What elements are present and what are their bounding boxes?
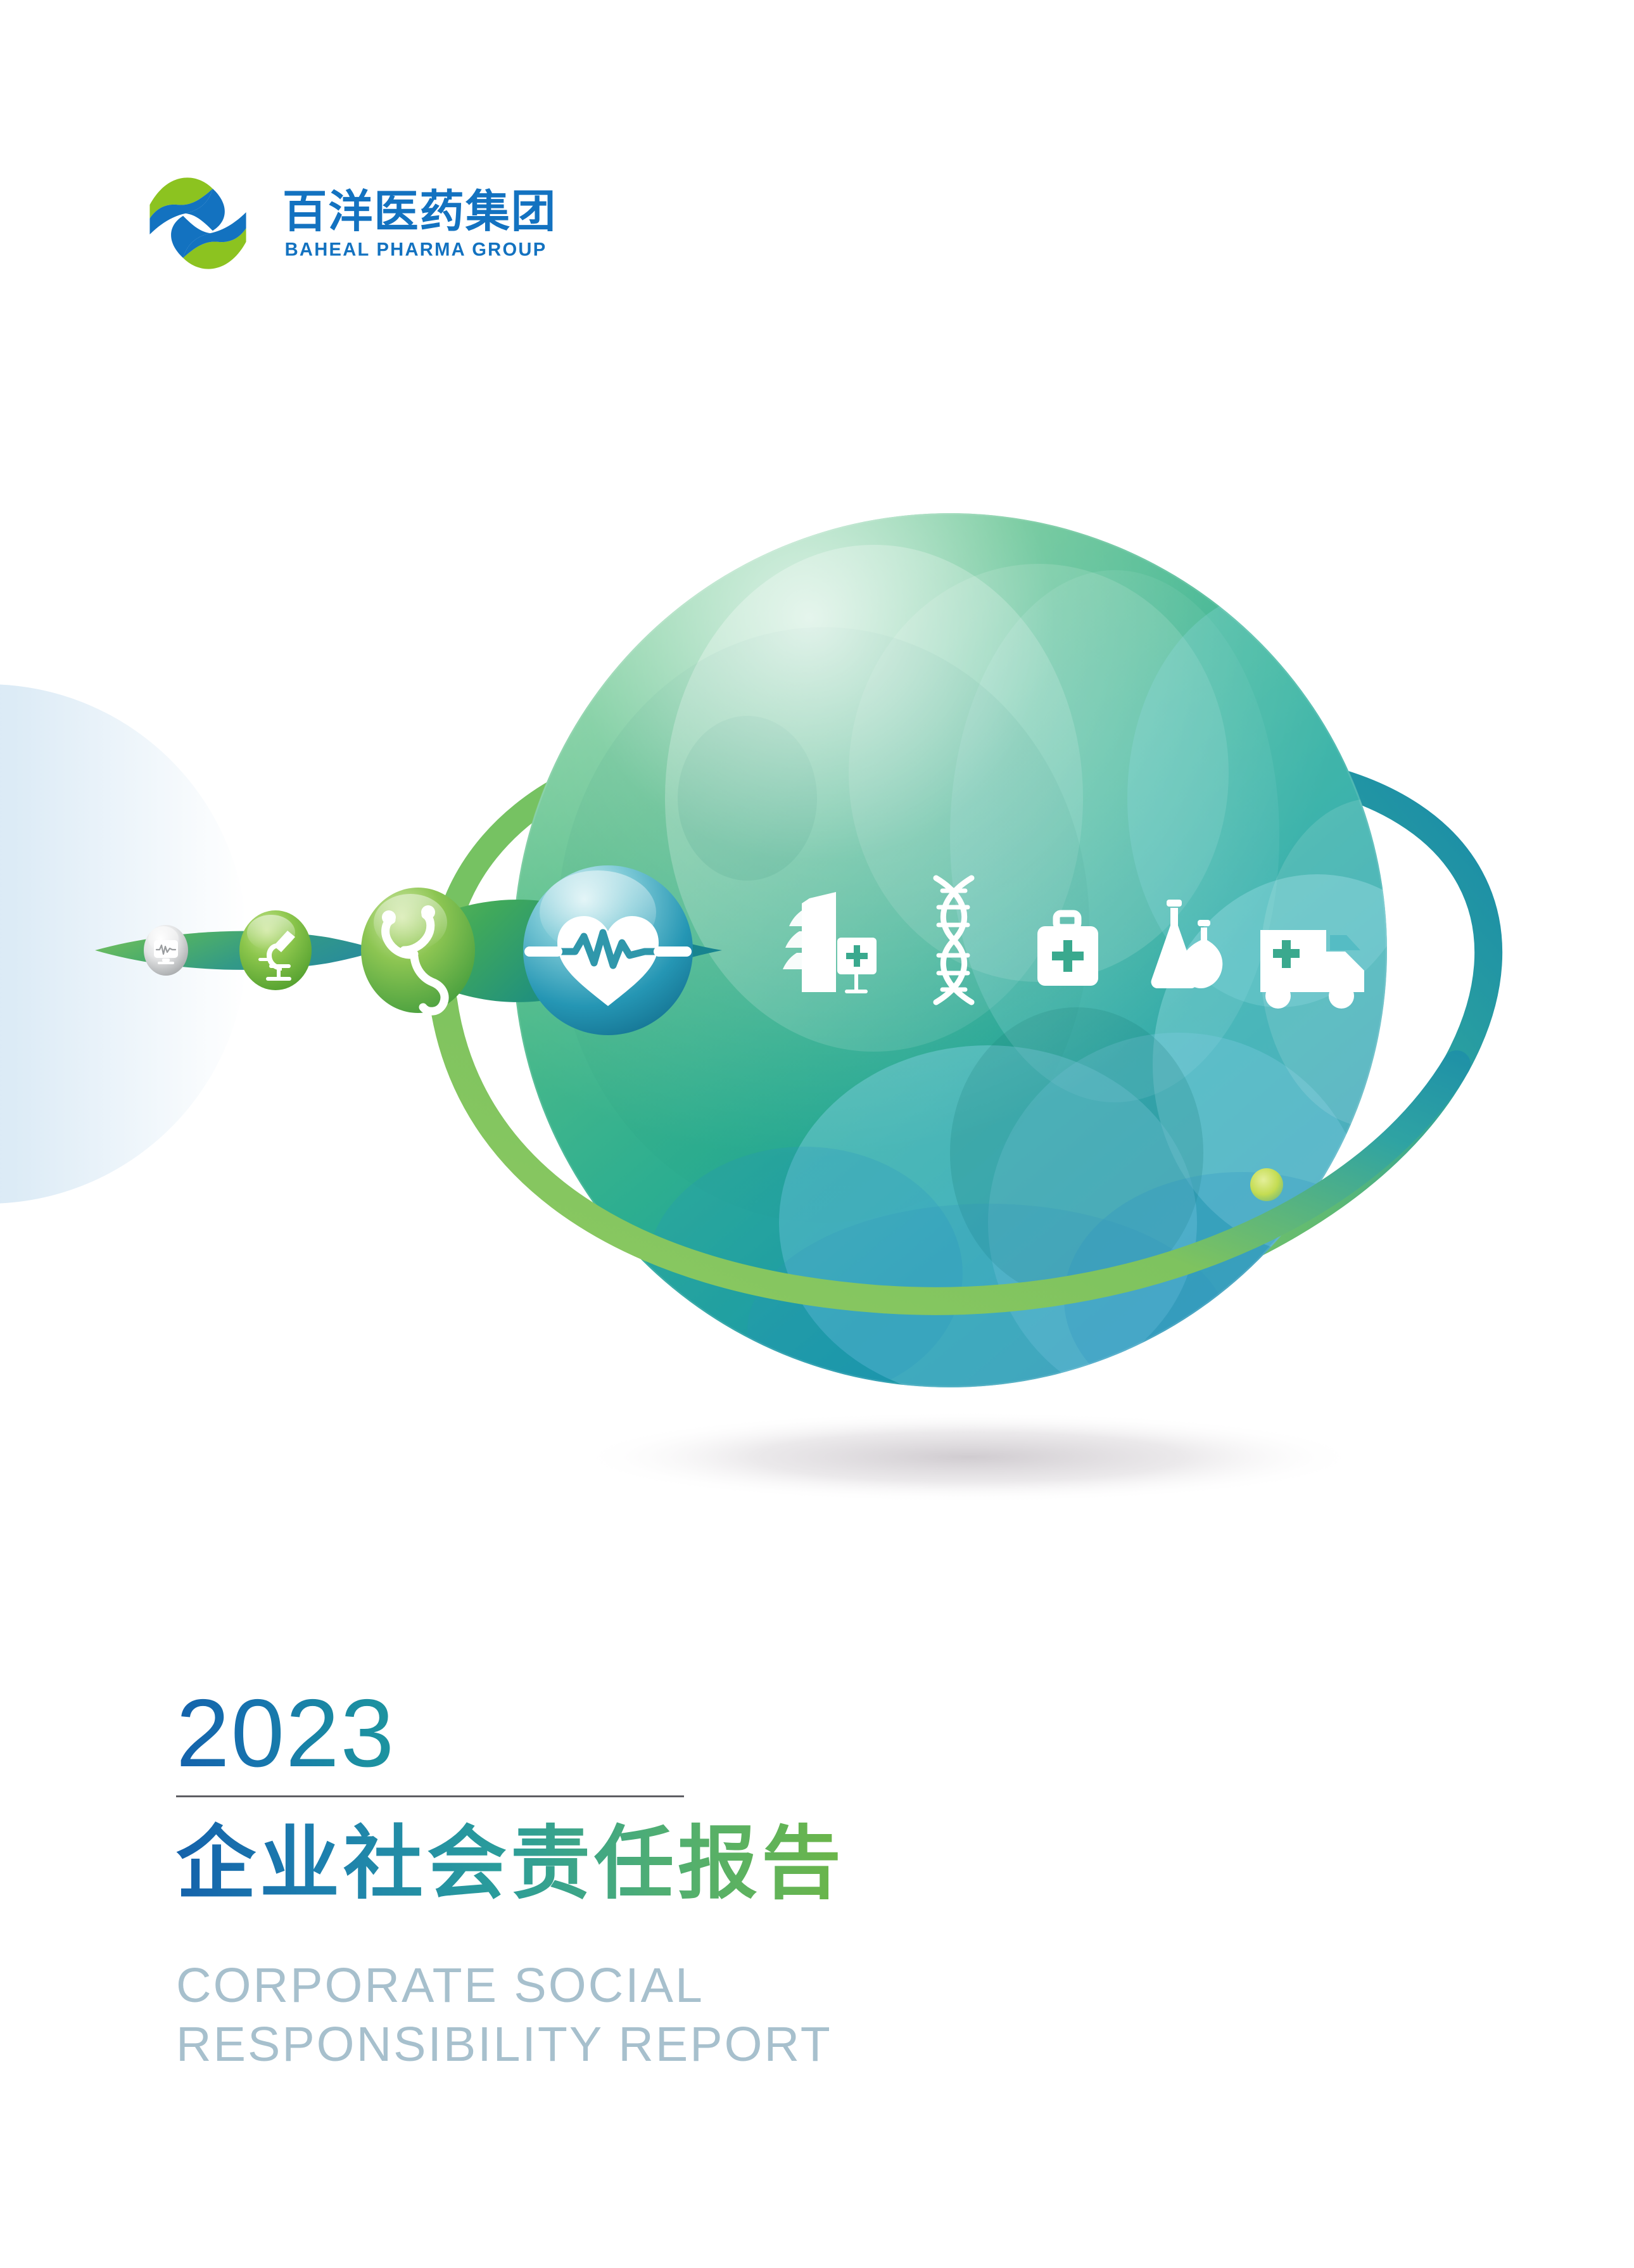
page-subtitle: CORPORATE SOCIAL RESPONSIBILITY REPORT (176, 1956, 1126, 2074)
medical-globe-illustration (0, 443, 1634, 1584)
logo-wordmark: 百洋医药集团 BAHEAL PHARMA GROUP (282, 188, 643, 259)
yellow-green-accent-dot (1250, 1168, 1283, 1201)
baheal-wave-logo-mark (136, 162, 260, 285)
heartbeat-node (523, 865, 693, 1035)
report-cover-page: 百洋医药集团 BAHEAL PHARMA GROUP (0, 0, 1634, 2268)
page-subtitle-line-1: CORPORATE SOCIAL (176, 1956, 1126, 2015)
cover-title-block: 2023 企业社会责任报告 CORPORATE SOCIAL RESPONSIB… (176, 1685, 1126, 2074)
logo-cn-text: 百洋医药集团 (282, 188, 557, 236)
globe-drop-shadow (576, 1411, 1362, 1503)
microscope-node (239, 910, 312, 990)
ecg-monitor-node (144, 925, 188, 976)
page-title: 企业社会责任报告 (176, 1819, 845, 1908)
logo-en-text: BAHEAL PHARMA GROUP (285, 239, 547, 259)
report-year: 2023 (176, 1685, 395, 1781)
stethoscope-node (361, 888, 475, 1013)
logo-company-name-cn: 百洋医药集团 (282, 188, 643, 236)
logo-company-name-en: BAHEAL PHARMA GROUP (282, 239, 643, 259)
title-divider-rule (176, 1795, 684, 1797)
company-logo: 百洋医药集团 BAHEAL PHARMA GROUP (136, 162, 643, 285)
page-subtitle-line-2: RESPONSIBILITY REPORT (176, 2015, 1126, 2074)
